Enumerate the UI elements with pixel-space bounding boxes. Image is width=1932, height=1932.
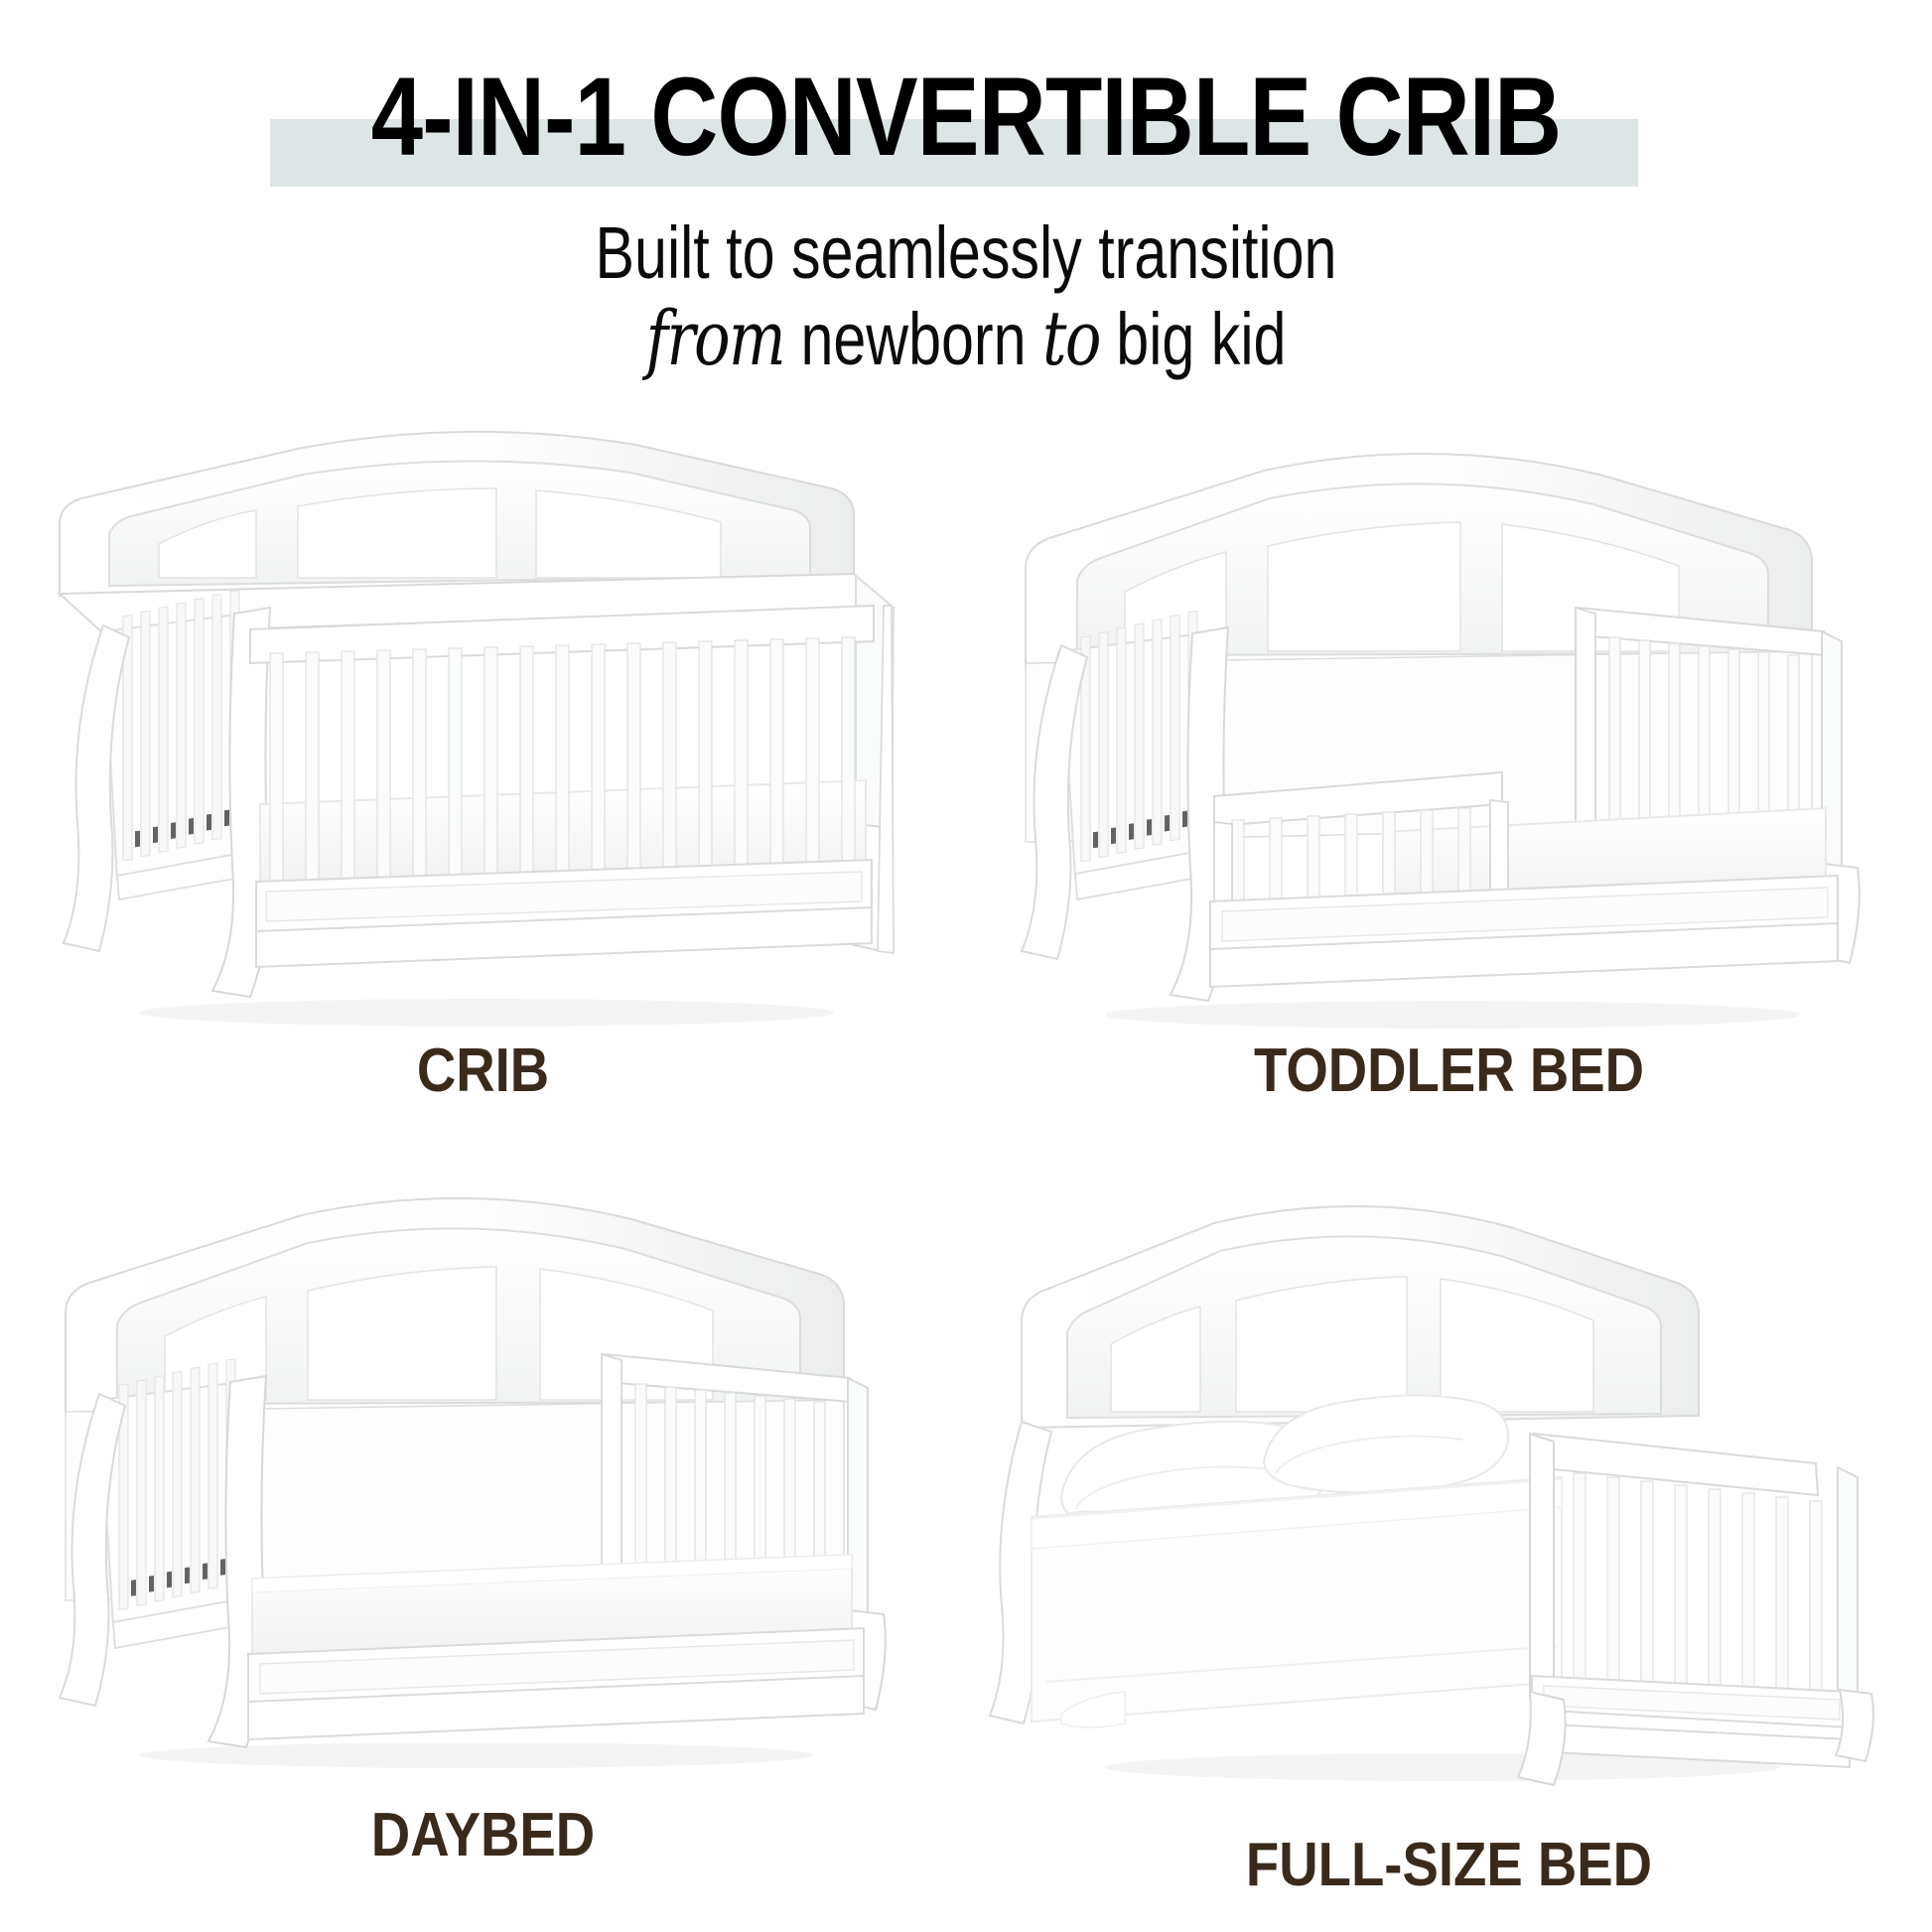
configuration-cell-crib: CRIB [0,427,966,1179]
caption-full-size-bed: FULL-SIZE BED [1024,1835,1873,1896]
caption-toddler-bed: TODDLER BED [1024,1040,1873,1102]
caption-daybed: DAYBED [58,1805,907,1866]
configuration-grid: CRIB [0,427,1932,1932]
subtitle-word-to: to [1042,294,1100,382]
subtitle-line-1-text: Built to seamlessly transition [596,211,1337,294]
subtitle-word-from: from [646,294,784,382]
convertible-crib-illustration [0,427,966,1042]
caption-crib: CRIB [58,1040,907,1102]
toddler-bed-illustration [966,427,1932,1042]
subtitle-word-bigkid: big kid [1116,298,1286,380]
subtitle-line-1: Built to seamlessly transition [194,210,1739,296]
infographic-page: 4-IN-1 CONVERTIBLE CRIB Built to seamles… [0,0,1932,1932]
configuration-cell-toddler-bed: TODDLER BED [966,427,1932,1179]
subtitle-line-2: from newborn to big kid [194,296,1739,382]
full-size-bed-illustration [966,1179,1932,1795]
configuration-cell-full-size-bed: FULL-SIZE BED [966,1179,1932,1932]
subtitle-word-newborn: newborn [800,298,1026,380]
daybed-illustration [0,1179,966,1795]
header: 4-IN-1 CONVERTIBLE CRIB Built to seamles… [0,0,1932,427]
subtitle: Built to seamlessly transition from newb… [0,210,1932,382]
configuration-cell-daybed: DAYBED [0,1179,966,1932]
page-title: 4-IN-1 CONVERTIBLE CRIB [155,62,1778,173]
